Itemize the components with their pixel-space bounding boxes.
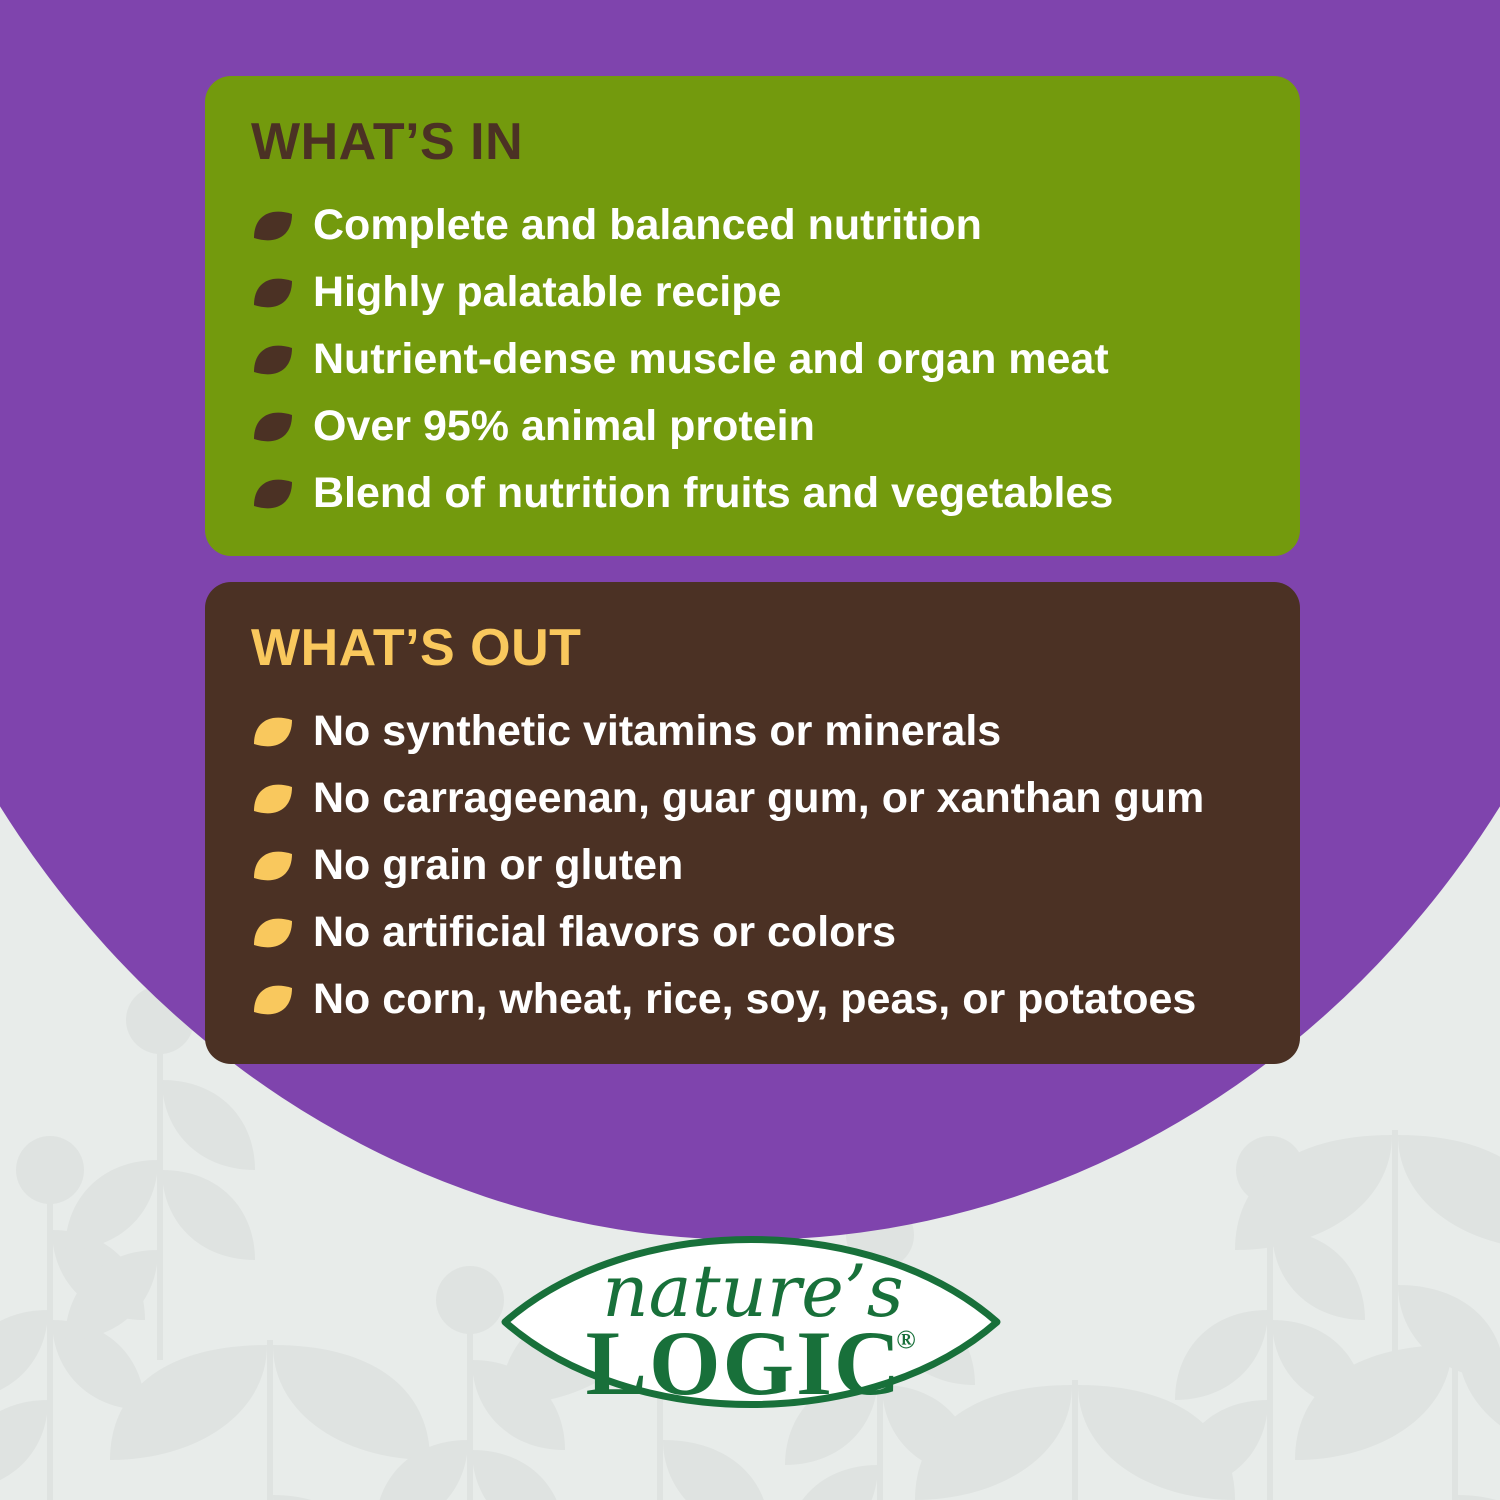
- list-item: Highly palatable recipe: [251, 265, 1254, 321]
- list-item-label: Highly palatable recipe: [313, 270, 781, 315]
- list-item: Over 95% animal protein: [251, 399, 1254, 455]
- list-item: No grain or gluten: [251, 838, 1254, 894]
- whats-in-card: WHAT’S IN Complete and balanced nutritio…: [205, 76, 1300, 556]
- leaf-bullet-icon: [251, 844, 295, 888]
- leaf-bullet-icon: [251, 911, 295, 955]
- list-item-label: No artificial flavors or colors: [313, 910, 896, 955]
- list-item-label: No corn, wheat, rice, soy, peas, or pota…: [313, 977, 1196, 1022]
- list-item: No artificial flavors or colors: [251, 905, 1254, 961]
- list-item-label: Over 95% animal protein: [313, 404, 815, 449]
- list-item-label: Complete and balanced nutrition: [313, 203, 982, 248]
- leaf-bullet-icon: [251, 472, 295, 516]
- leaf-bullet-icon: [251, 777, 295, 821]
- list-item-label: No grain or gluten: [313, 843, 683, 888]
- list-item: Blend of nutrition fruits and vegetables: [251, 466, 1254, 522]
- list-item-label: No synthetic vitamins or minerals: [313, 709, 1001, 754]
- list-item-label: No carrageenan, guar gum, or xanthan gum: [313, 776, 1204, 821]
- list-item: No carrageenan, guar gum, or xanthan gum: [251, 771, 1254, 827]
- leaf-bullet-icon: [251, 978, 295, 1022]
- whats-out-title: WHAT’S OUT: [251, 622, 1254, 674]
- whats-in-list: Complete and balanced nutrition Highly p…: [251, 198, 1254, 522]
- leaf-bullet-icon: [251, 710, 295, 754]
- logo-trademark-mark: ®: [896, 1325, 915, 1354]
- leaf-bullet-icon: [251, 338, 295, 382]
- whats-in-title: WHAT’S IN: [251, 116, 1254, 168]
- list-item-label: Blend of nutrition fruits and vegetables: [313, 471, 1113, 516]
- leaf-bullet-icon: [251, 271, 295, 315]
- list-item: Complete and balanced nutrition: [251, 198, 1254, 254]
- brand-logo: nature’s LOGIC ®: [501, 1196, 1001, 1448]
- whats-out-card: WHAT’S OUT No synthetic vitamins or mine…: [205, 582, 1300, 1064]
- list-item: Nutrient-dense muscle and organ meat: [251, 332, 1254, 388]
- logo-serif-word: LOGIC: [586, 1312, 903, 1414]
- list-item: No synthetic vitamins or minerals: [251, 704, 1254, 760]
- list-item-label: Nutrient-dense muscle and organ meat: [313, 337, 1109, 382]
- list-item: No corn, wheat, rice, soy, peas, or pota…: [251, 972, 1254, 1028]
- leaf-bullet-icon: [251, 405, 295, 449]
- leaf-bullet-icon: [251, 204, 295, 248]
- whats-out-list: No synthetic vitamins or minerals No car…: [251, 704, 1254, 1028]
- product-benefits-poster: WHAT’S IN Complete and balanced nutritio…: [0, 0, 1500, 1500]
